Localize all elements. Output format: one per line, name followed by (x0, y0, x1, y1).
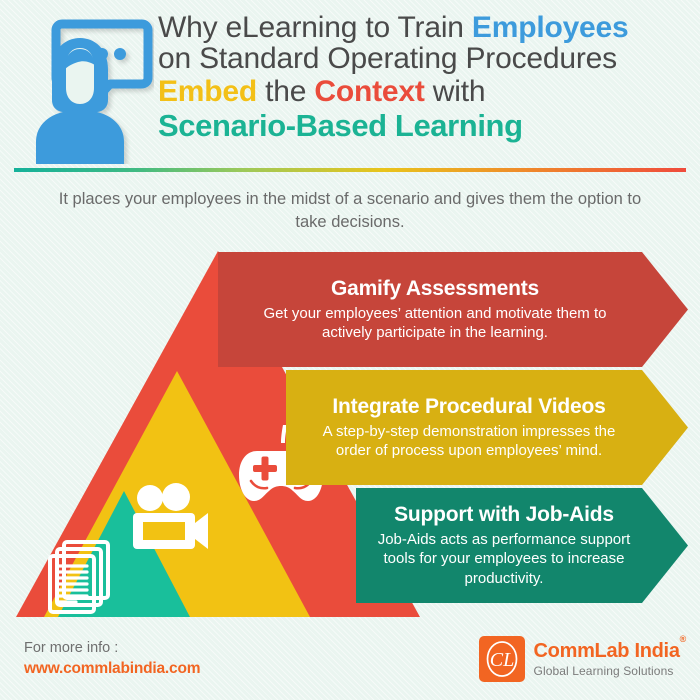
headline-context-highlight: Context (314, 75, 424, 108)
registered-trademark-icon: ® (680, 634, 686, 644)
brand-logo[interactable]: CL CommLab India® Global Learning Soluti… (479, 636, 686, 682)
banner-support-with-job-aids[interactable]: Support with Job-Aids Job-Aids acts as p… (356, 488, 688, 603)
more-info-block: For more info : www.commlabindia.com (24, 638, 200, 678)
documents-icon (42, 538, 118, 621)
brand-tagline: Global Learning Solutions (534, 664, 686, 678)
headline-line-3: Embed the Context with (158, 77, 692, 108)
brand-name: CommLab India® (534, 641, 686, 662)
footer: For more info : www.commlabindia.com CL … (0, 630, 700, 700)
brand-name-text: CommLab India (534, 640, 680, 662)
video-camera-icon (129, 483, 209, 560)
headline-embed-highlight: Embed (158, 75, 257, 108)
banner-title: Integrate Procedural Videos (306, 395, 632, 419)
headline-line-1-plain: Why eLearning to Train (158, 11, 472, 44)
banner-title: Support with Job-Aids (376, 503, 632, 527)
monogram-text: CL (489, 649, 513, 671)
subtitle-text: It places your employees in the midst of… (50, 188, 650, 235)
headline-line-3-the: the (257, 75, 314, 108)
header-divider-rule (14, 168, 686, 172)
woman-with-speech-bubble-icon (14, 14, 154, 164)
infographic-page: Why eLearning to Train Employees on Stan… (0, 0, 700, 700)
headline-line-3-with: with (425, 75, 486, 108)
brand-text-block: CommLab India® Global Learning Solutions (534, 641, 686, 678)
banner-title: Gamify Assessments (238, 277, 632, 301)
banner-body: Job-Aids acts as performance support too… (376, 530, 632, 587)
banner-gamify-assessments[interactable]: Gamify Assessments Get your employees’ a… (218, 252, 688, 367)
banner-integrate-procedural-videos[interactable]: Integrate Procedural Videos A step-by-st… (286, 370, 688, 485)
pyramid-diagram: Gamify Assessments Get your employees’ a… (0, 240, 700, 618)
headline-employees-highlight: Employees (472, 11, 629, 44)
headline-line-1: Why eLearning to Train Employees (158, 13, 692, 44)
headline-line-4: Scenario-Based Learning (158, 110, 692, 142)
commlab-monogram-icon: CL (479, 636, 525, 682)
banner-body: Get your employees’ attention and motiva… (238, 304, 632, 342)
website-url-link[interactable]: www.commlabindia.com (24, 660, 200, 678)
header: Why eLearning to Train Employees on Stan… (0, 0, 700, 170)
more-info-label: For more info : (24, 638, 200, 660)
headline-line-2: on Standard Operating Procedures (158, 44, 692, 75)
banner-body: A step-by-step demonstration impresses t… (306, 422, 632, 460)
page-title: Why eLearning to Train Employees on Stan… (158, 13, 692, 141)
